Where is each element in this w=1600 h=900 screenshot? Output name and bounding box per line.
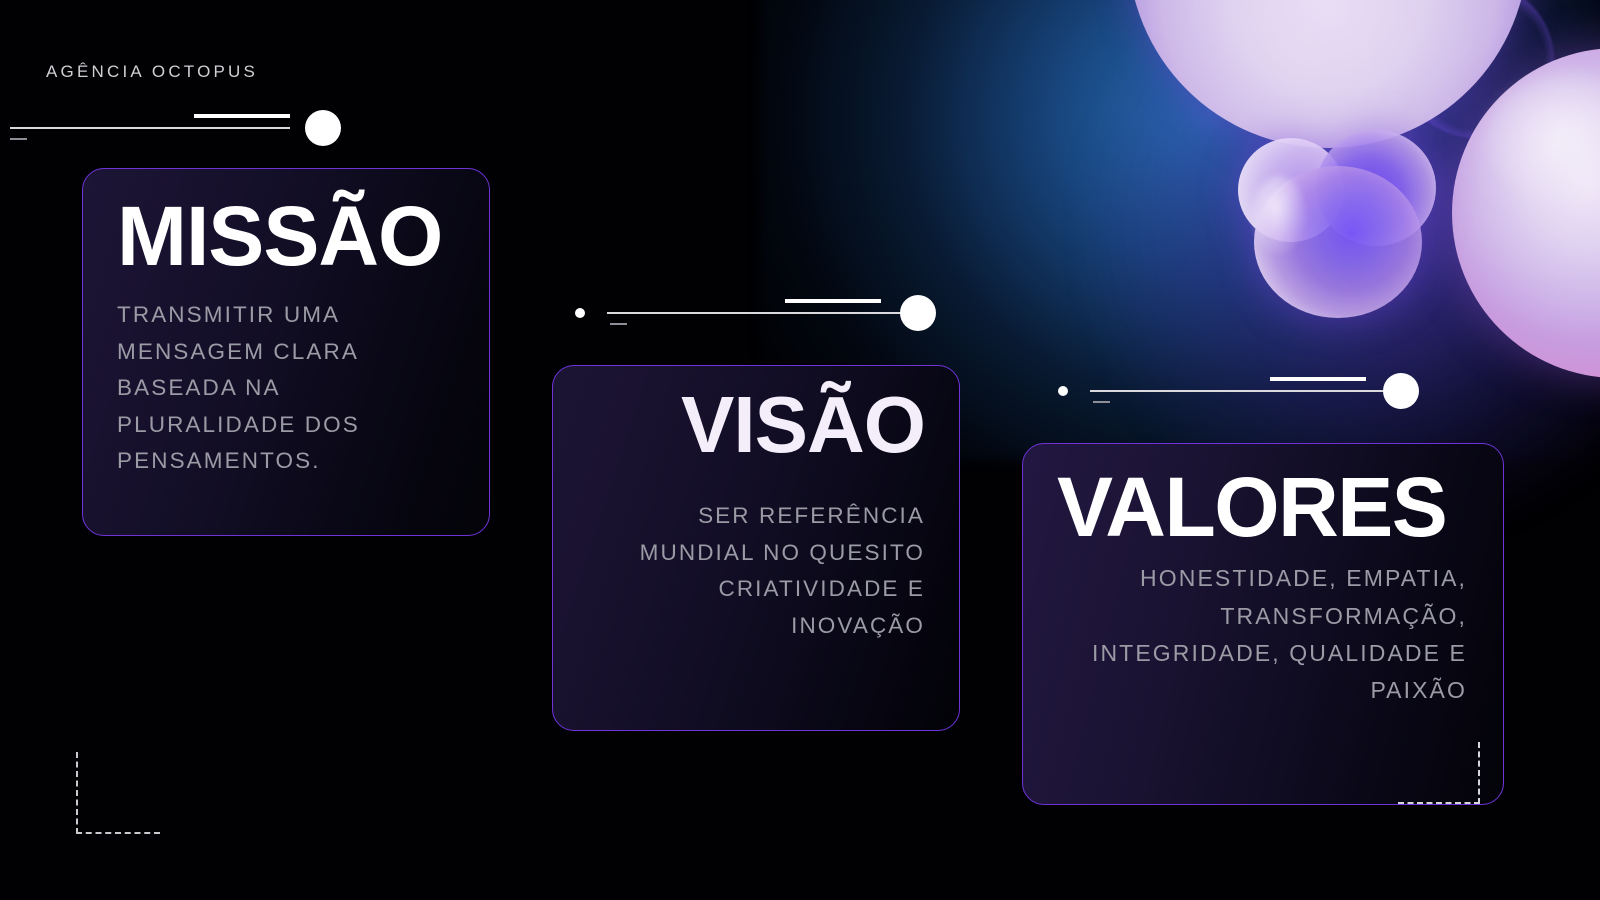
- bubble-small-rim-icon: [1398, 0, 1554, 138]
- tiny-dash-icon: [610, 323, 627, 325]
- thin-line-icon: [1090, 390, 1395, 392]
- bubble-heart-icon: [1238, 130, 1438, 320]
- large-dot-icon: [305, 110, 341, 146]
- thick-line-icon: [785, 299, 881, 303]
- card-visao-body: SER REFERÊNCIA MUNDIAL NO QUESITO CRIATI…: [583, 498, 925, 644]
- thin-line-icon: [607, 312, 910, 314]
- thin-line-icon: [10, 127, 290, 129]
- bubble-large-top-icon: [1128, 0, 1528, 148]
- card-valores-body: HONESTIDADE, EMPATIA, TRANSFORMAÇÃO, INT…: [1057, 560, 1467, 709]
- valores-accent-line: [1058, 368, 1420, 414]
- brand-label: AGÊNCIA OCTOPUS: [46, 62, 258, 82]
- large-dot-icon: [1383, 373, 1419, 409]
- card-visao[interactable]: VISÃO SER REFERÊNCIA MUNDIAL NO QUESITO …: [552, 365, 960, 731]
- bubble-large-right-icon: [1452, 48, 1600, 378]
- small-dot-icon: [575, 308, 585, 318]
- tiny-dash-icon: [10, 138, 27, 140]
- large-dot-icon: [900, 295, 936, 331]
- small-dot-icon: [1058, 386, 1068, 396]
- header-accent-line: [0, 105, 345, 151]
- card-valores[interactable]: VALORES HONESTIDADE, EMPATIA, TRANSFORMA…: [1022, 443, 1504, 805]
- thick-line-icon: [194, 114, 290, 118]
- slide-canvas: AGÊNCIA OCTOPUS MISSÃO TRANSMITIR UMA ME…: [0, 0, 1600, 900]
- card-missao-body: TRANSMITIR UMA MENSAGEM CLARA BASEADA NA…: [117, 297, 457, 479]
- visao-accent-line: [575, 290, 935, 336]
- dashed-corner-bracket-bottom-left: [76, 752, 160, 834]
- card-missao[interactable]: MISSÃO TRANSMITIR UMA MENSAGEM CLARA BAS…: [82, 168, 490, 536]
- thick-line-icon: [1270, 377, 1366, 381]
- card-valores-title: VALORES: [1057, 466, 1467, 548]
- card-visao-title: VISÃO: [583, 386, 925, 464]
- tiny-dash-icon: [1093, 401, 1110, 403]
- card-missao-title: MISSÃO: [117, 195, 457, 277]
